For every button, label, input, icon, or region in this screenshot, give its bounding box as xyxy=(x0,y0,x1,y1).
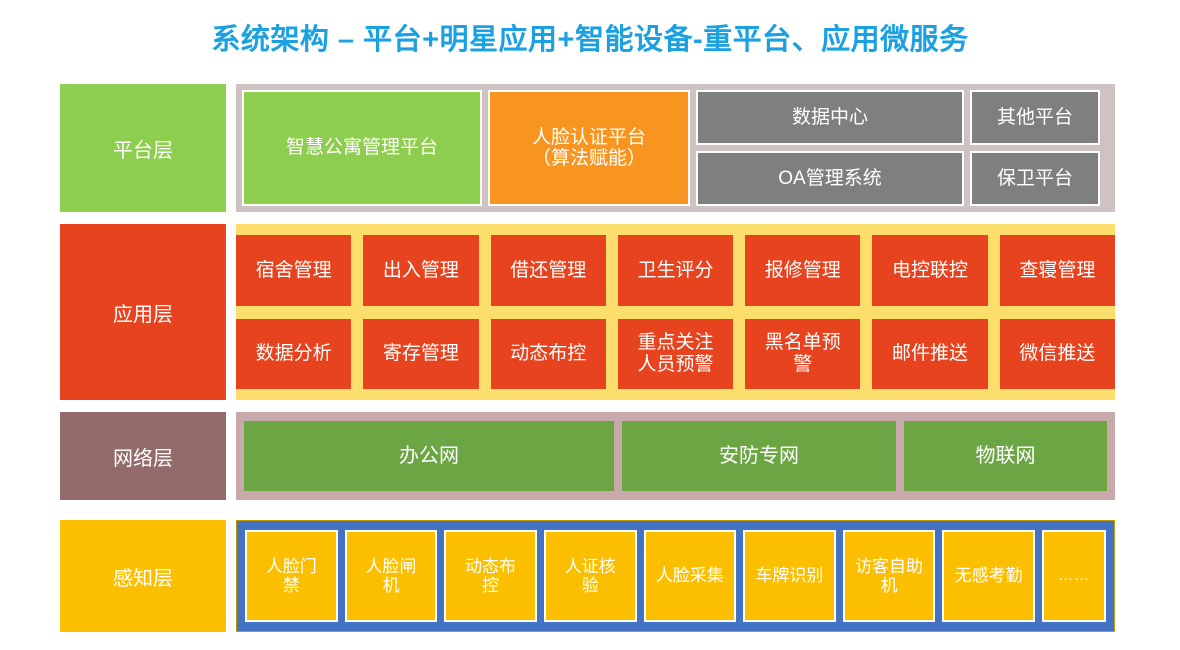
app-box-data-analysis[interactable]: 数据分析 xyxy=(236,317,353,392)
application-layer-label: 应用层 xyxy=(60,224,226,400)
platform-layer-label: 平台层 xyxy=(60,84,226,212)
network-box-security-network[interactable]: 安防专网 xyxy=(622,421,896,491)
network-layer-band: 办公网 安防专网 物联网 xyxy=(236,412,1115,500)
sense-box-dynamic-control[interactable]: 动态布 控 xyxy=(444,530,537,622)
platform-right-column: 其他平台 保卫平台 xyxy=(970,90,1100,206)
network-box-iot-network[interactable]: 物联网 xyxy=(904,421,1107,491)
page-title: 系统架构 – 平台+明星应用+智能设备-重平台、应用微服务 xyxy=(0,16,1180,58)
app-box-repair-management[interactable]: 报修管理 xyxy=(743,233,862,308)
platform-box-security-platform[interactable]: 保卫平台 xyxy=(970,151,1100,206)
platform-middle-column: 数据中心 OA管理系统 xyxy=(696,90,964,206)
sense-box-more-ellipsis[interactable]: …… xyxy=(1042,530,1106,622)
network-box-office-network[interactable]: 办公网 xyxy=(244,421,614,491)
platform-box-oa-system[interactable]: OA管理系统 xyxy=(696,151,964,206)
platform-box-apartment-management[interactable]: 智慧公寓管理平台 xyxy=(242,90,482,206)
app-box-key-person-alert[interactable]: 重点关注 人员预警 xyxy=(616,317,735,392)
sense-box-visitor-kiosk[interactable]: 访客自助 机 xyxy=(843,530,936,622)
app-box-dorm-management[interactable]: 宿舍管理 xyxy=(236,233,353,308)
sense-box-plate-recognition[interactable]: 车牌识别 xyxy=(743,530,836,622)
application-row-1: 宿舍管理 出入管理 借还管理 卫生评分 报修管理 电控联控 查寝管理 xyxy=(236,233,1115,308)
network-layer-label: 网络层 xyxy=(60,412,226,500)
application-layer-row: 应用层 宿舍管理 出入管理 借还管理 卫生评分 报修管理 电控联控 查寝管理 数… xyxy=(0,224,1180,400)
app-box-access-management[interactable]: 出入管理 xyxy=(361,233,480,308)
app-box-hygiene-score[interactable]: 卫生评分 xyxy=(616,233,735,308)
sense-box-id-verification[interactable]: 人证核 验 xyxy=(544,530,637,622)
platform-box-data-center[interactable]: 数据中心 xyxy=(696,90,964,145)
platform-box-other-platform[interactable]: 其他平台 xyxy=(970,90,1100,145)
app-box-dynamic-control[interactable]: 动态布控 xyxy=(489,317,608,392)
platform-box-face-authentication[interactable]: 人脸认证平台 （算法赋能） xyxy=(488,90,690,206)
sense-box-face-gate[interactable]: 人脸闸 机 xyxy=(345,530,438,622)
network-layer-row: 网络层 办公网 安防专网 物联网 xyxy=(0,412,1180,500)
app-box-email-push[interactable]: 邮件推送 xyxy=(870,317,989,392)
perception-layer-band: 人脸门 禁 人脸闸 机 动态布 控 人证核 验 人脸采集 车牌识别 访客自助 机… xyxy=(236,520,1115,632)
app-box-electric-control[interactable]: 电控联控 xyxy=(870,233,989,308)
sense-box-face-access-control[interactable]: 人脸门 禁 xyxy=(245,530,338,622)
app-box-blacklist-alert[interactable]: 黑名单预 警 xyxy=(743,317,862,392)
app-box-wechat-push[interactable]: 微信推送 xyxy=(998,317,1115,392)
app-box-storage-management[interactable]: 寄存管理 xyxy=(361,317,480,392)
sense-box-face-capture[interactable]: 人脸采集 xyxy=(644,530,737,622)
app-box-bed-check-management[interactable]: 查寝管理 xyxy=(998,233,1115,308)
sense-box-passive-attendance[interactable]: 无感考勤 xyxy=(942,530,1035,622)
platform-layer-row: 平台层 智慧公寓管理平台 人脸认证平台 （算法赋能） 数据中心 OA管理系统 其… xyxy=(0,84,1180,212)
app-box-borrow-return[interactable]: 借还管理 xyxy=(489,233,608,308)
perception-layer-row: 感知层 人脸门 禁 人脸闸 机 动态布 控 人证核 验 人脸采集 车牌识别 访客… xyxy=(0,520,1180,632)
platform-layer-band: 智慧公寓管理平台 人脸认证平台 （算法赋能） 数据中心 OA管理系统 其他平台 … xyxy=(236,84,1115,212)
application-row-2: 数据分析 寄存管理 动态布控 重点关注 人员预警 黑名单预 警 邮件推送 微信推… xyxy=(236,317,1115,392)
application-layer-band: 宿舍管理 出入管理 借还管理 卫生评分 报修管理 电控联控 查寝管理 数据分析 … xyxy=(236,224,1115,400)
perception-layer-label: 感知层 xyxy=(60,520,226,632)
